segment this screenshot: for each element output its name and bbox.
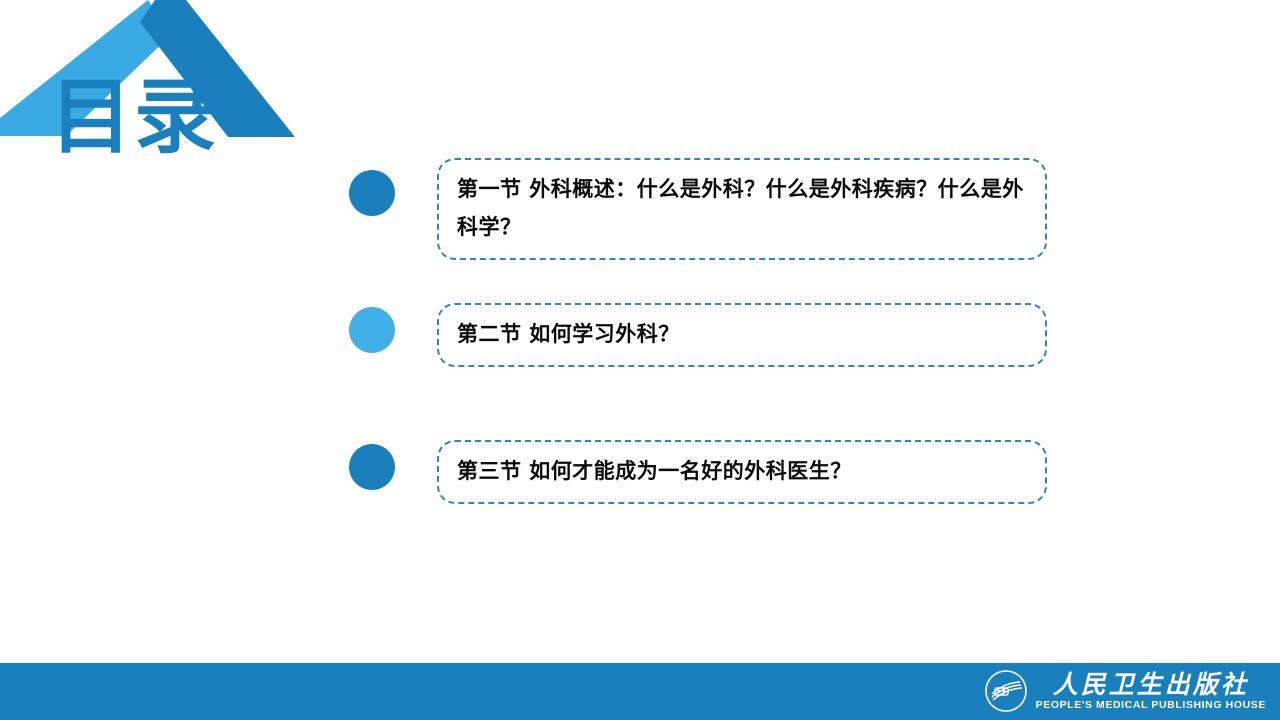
table-of-contents: 第一节 外科概述：什么是外科？什么是外科疾病？什么是外科学？ 第二节 如何学习外… [0, 0, 1280, 660]
toc-item-label: 第一节 外科概述：什么是外科？什么是外科疾病？什么是外科学？ [457, 170, 1027, 246]
bullet-dot-2 [349, 307, 395, 353]
presentation-slide: 目录 第一节 外科概述：什么是外科？什么是外科疾病？什么是外科学？ 第二节 如何… [0, 0, 1280, 720]
publisher-name-cn: 人民卫生出版社 [1053, 672, 1249, 697]
publisher-name-en: PEOPLE'S MEDICAL PUBLISHING HOUSE [1036, 700, 1266, 711]
toc-item-label: 第三节 如何才能成为一名好的外科医生？ [457, 452, 852, 490]
bullet-dot-3 [349, 444, 395, 490]
publisher-logo: 人民卫生出版社 PEOPLE'S MEDICAL PUBLISHING HOUS… [984, 666, 1266, 716]
toc-box-1[interactable]: 第一节 外科概述：什么是外科？什么是外科疾病？什么是外科学？ [437, 158, 1047, 260]
toc-item-label: 第二节 如何学习外科？ [457, 315, 680, 353]
footer-bar: 人民卫生出版社 PEOPLE'S MEDICAL PUBLISHING HOUS… [0, 663, 1280, 720]
publisher-names: 人民卫生出版社 PEOPLE'S MEDICAL PUBLISHING HOUS… [1036, 672, 1266, 711]
bullet-dot-1 [349, 170, 395, 216]
toc-box-2[interactable]: 第二节 如何学习外科？ [437, 303, 1047, 367]
toc-box-3[interactable]: 第三节 如何才能成为一名好的外科医生？ [437, 440, 1047, 504]
publisher-emblem-icon [984, 669, 1028, 713]
